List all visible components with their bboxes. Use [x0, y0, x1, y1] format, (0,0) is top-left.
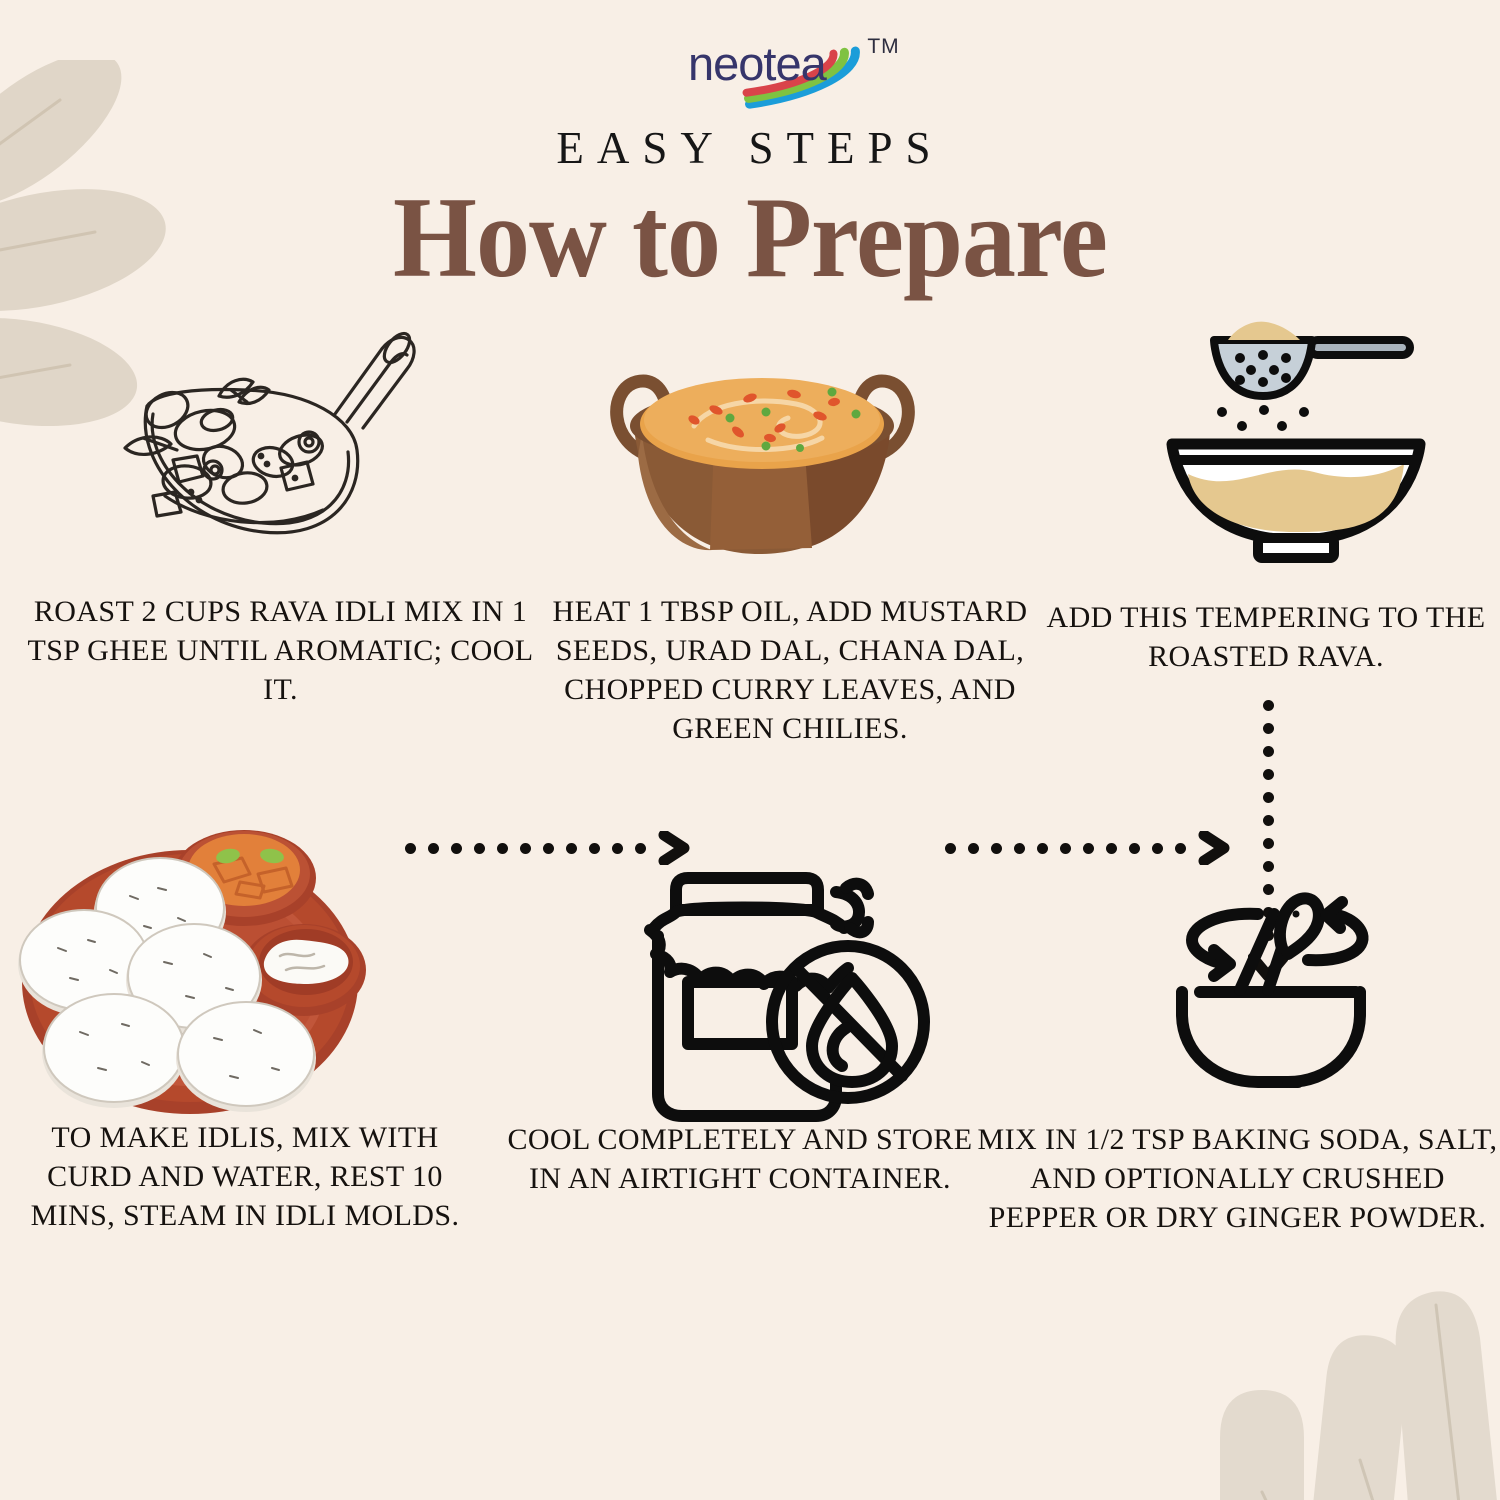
- sifter-over-bowl-icon: [1162, 314, 1430, 566]
- idli-plate-icon: [18, 830, 368, 1120]
- eyebrow-text: EASY STEPS: [0, 122, 1500, 174]
- step-5-caption: COOL COMPLETELY AND STORE IN AN AIRTIGHT…: [500, 1120, 980, 1198]
- step-5-illustration: [640, 832, 940, 1122]
- step-4-illustration: [1170, 878, 1420, 1093]
- kadai-tempering-icon: [590, 328, 935, 568]
- step-6-caption: TO MAKE IDLIS, MIX WITH CURD AND WATER, …: [5, 1118, 485, 1235]
- step-4-caption: MIX IN 1/2 TSP BAKING SODA, SALT, AND OP…: [975, 1120, 1500, 1237]
- trademark-symbol: TM: [867, 35, 899, 59]
- step-6-illustration: [18, 830, 368, 1120]
- step-3-caption: ADD THIS TEMPERING TO THE ROASTED RAVA.: [1035, 598, 1497, 676]
- step-2-illustration: [590, 328, 935, 568]
- step-2-caption: HEAT 1 TBSP OIL, ADD MUSTARD SEEDS, URAD…: [512, 592, 1068, 748]
- svg-text:neotea: neotea: [688, 37, 828, 90]
- brand-logo: neotea TM: [0, 18, 1500, 110]
- mixing-bowl-icon: [1170, 878, 1420, 1093]
- frying-pan-with-vegetables-icon: [95, 310, 435, 565]
- step-3-illustration: [1162, 314, 1430, 566]
- page-title: How to Prepare: [53, 172, 1448, 305]
- airtight-jar-no-moisture-icon: [640, 832, 940, 1122]
- steps-row-bottom: TO MAKE IDLIS, MIX WITH CURD AND WATER, …: [0, 820, 1500, 1320]
- step-1-caption: ROAST 2 CUPS RAVA IDLI MIX IN 1 TSP GHEE…: [8, 592, 553, 709]
- neotea-logo-icon: neotea: [600, 18, 865, 110]
- step-1-illustration: [95, 310, 435, 565]
- infographic-page: neotea TM EASY STEPS How to Prepare: [0, 0, 1500, 1500]
